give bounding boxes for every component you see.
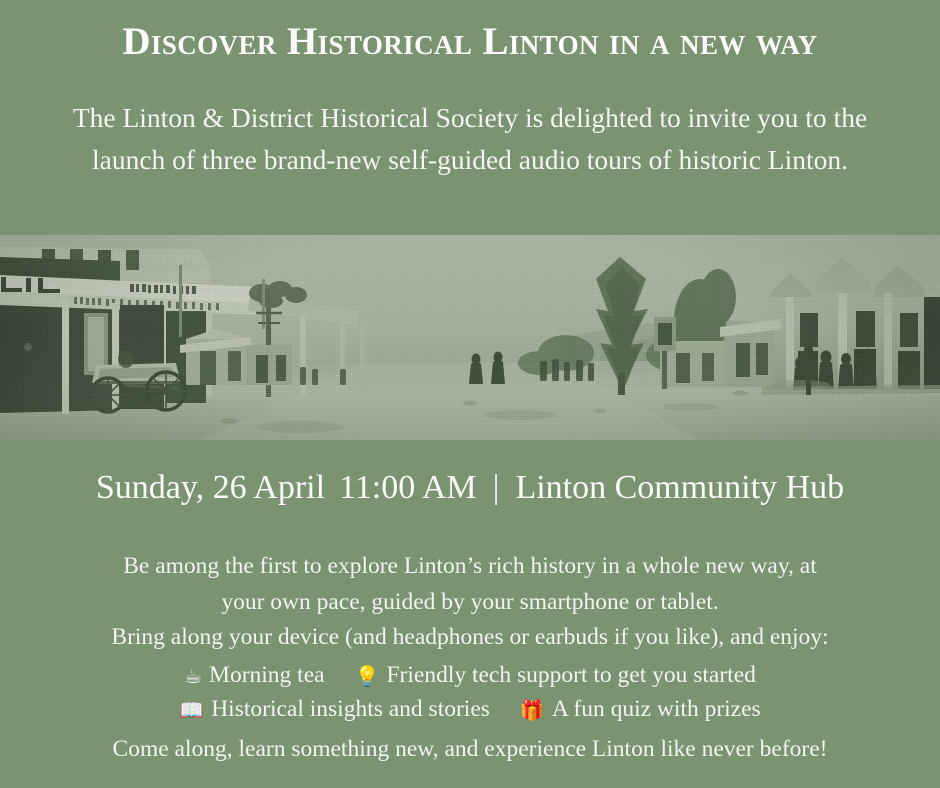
body-copy: Be among the first to explore Linton’s r… — [50, 548, 890, 766]
light-bulb-icon: 💡 — [355, 659, 380, 693]
event-venue: Linton Community Hub — [515, 469, 844, 506]
open-book-icon: 📖 — [179, 693, 204, 727]
perk-row: ☕ Morning tea 💡 Friendly tech support to… — [50, 658, 890, 692]
page-title: Discover Historical Linton in a new way — [0, 20, 940, 64]
historic-photo-band: Sepia-toned historic photograph of a Lin… — [0, 235, 940, 440]
perk-label: Historical insights and stories — [211, 692, 490, 726]
historic-linton-streetscape-photo: Sepia-toned historic photograph of a Lin… — [0, 235, 940, 440]
body-line-2: your own pace, guided by your smartphone… — [50, 584, 890, 620]
event-date: Sunday, 26 April — [96, 469, 325, 506]
closing-line: Come along, learn something new, and exp… — [50, 732, 890, 766]
event-details-line: Sunday, 26 April11:00 AM|Linton Communit… — [0, 464, 940, 512]
event-poster: Discover Historical Linton in a new way … — [0, 0, 940, 788]
perks-list: ☕ Morning tea 💡 Friendly tech support to… — [50, 658, 890, 726]
intro-paragraph: The Linton & District Historical Society… — [60, 97, 880, 181]
perk-row: 📖 Historical insights and stories 🎁 A fu… — [50, 692, 890, 726]
perk-label: A fun quiz with prizes — [552, 692, 761, 726]
perk-label: Friendly tech support to get you started — [386, 658, 755, 692]
body-line-1: Be among the first to explore Linton’s r… — [50, 548, 890, 584]
hot-beverage-icon: ☕ — [184, 659, 202, 693]
perk-item-historical-insights: 📖 Historical insights and stories — [179, 692, 490, 726]
perk-item-tech-support: 💡 Friendly tech support to get you start… — [355, 658, 756, 692]
event-time: 11:00 AM — [339, 469, 477, 506]
poster-header: Discover Historical Linton in a new way … — [0, 0, 940, 235]
perk-item-fun-quiz: 🎁 A fun quiz with prizes — [520, 692, 761, 726]
body-line-3: Bring along your device (and headphones … — [50, 620, 890, 655]
event-divider: | — [493, 464, 500, 512]
perk-item-morning-tea: ☕ Morning tea — [184, 658, 324, 692]
perk-label: Morning tea — [209, 658, 325, 692]
historic-street-scene-illustration — [0, 235, 940, 440]
gift-icon: 🎁 — [520, 693, 545, 727]
